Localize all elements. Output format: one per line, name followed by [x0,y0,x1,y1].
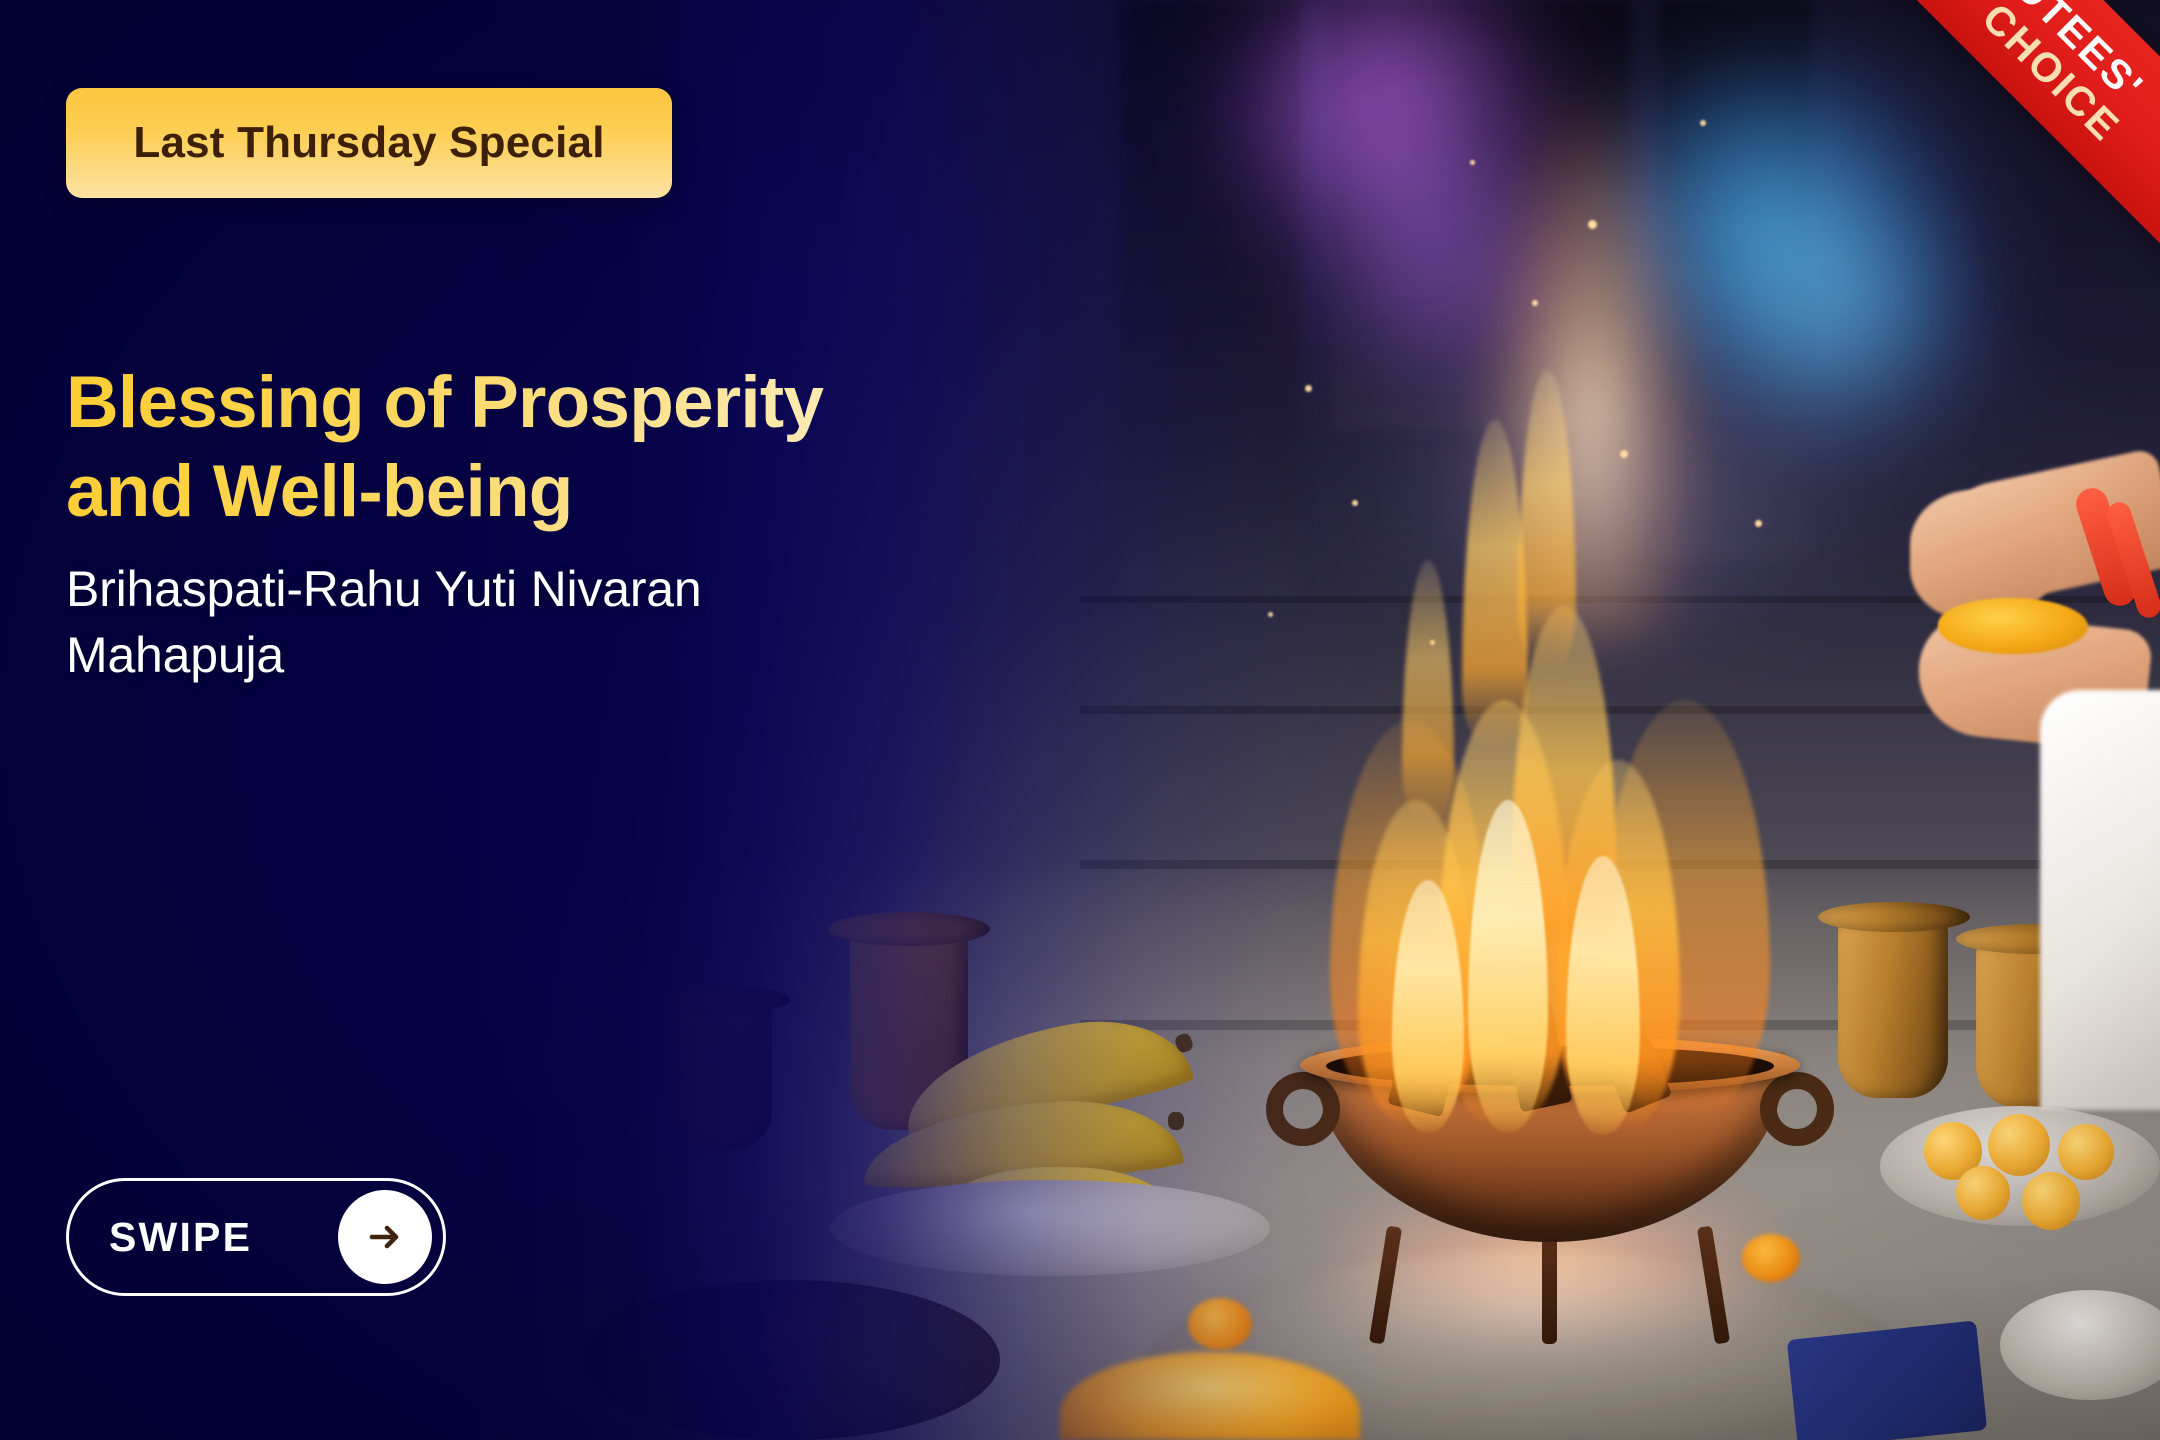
subheadline-line-1: Brihaspati-Rahu Yuti Nivaran [66,561,702,617]
headline-line-1: Blessing of Prosperity [66,362,823,443]
special-offer-badge: Last Thursday Special [66,88,672,198]
swipe-button[interactable]: SWIPE [66,1178,446,1296]
arrow-right-icon[interactable] [338,1190,432,1284]
special-offer-badge-label: Last Thursday Special [133,118,604,168]
banner-content: Last Thursday Special Blessing of Prospe… [0,0,2160,1440]
subheadline-line-2: Mahapuja [66,627,284,683]
swipe-button-label: SWIPE [109,1214,252,1261]
page-title: Blessing of Prosperityand Well-being [66,358,946,536]
page-subtitle: Brihaspati-Rahu Yuti NivaranMahapuja [66,556,886,688]
top-choice-ribbon: DEVOTEES' TOP CHOICE [1715,0,2160,335]
headline-line-2: and Well-being [66,451,573,532]
promo-banner: Last Thursday Special Blessing of Prospe… [0,0,2160,1440]
